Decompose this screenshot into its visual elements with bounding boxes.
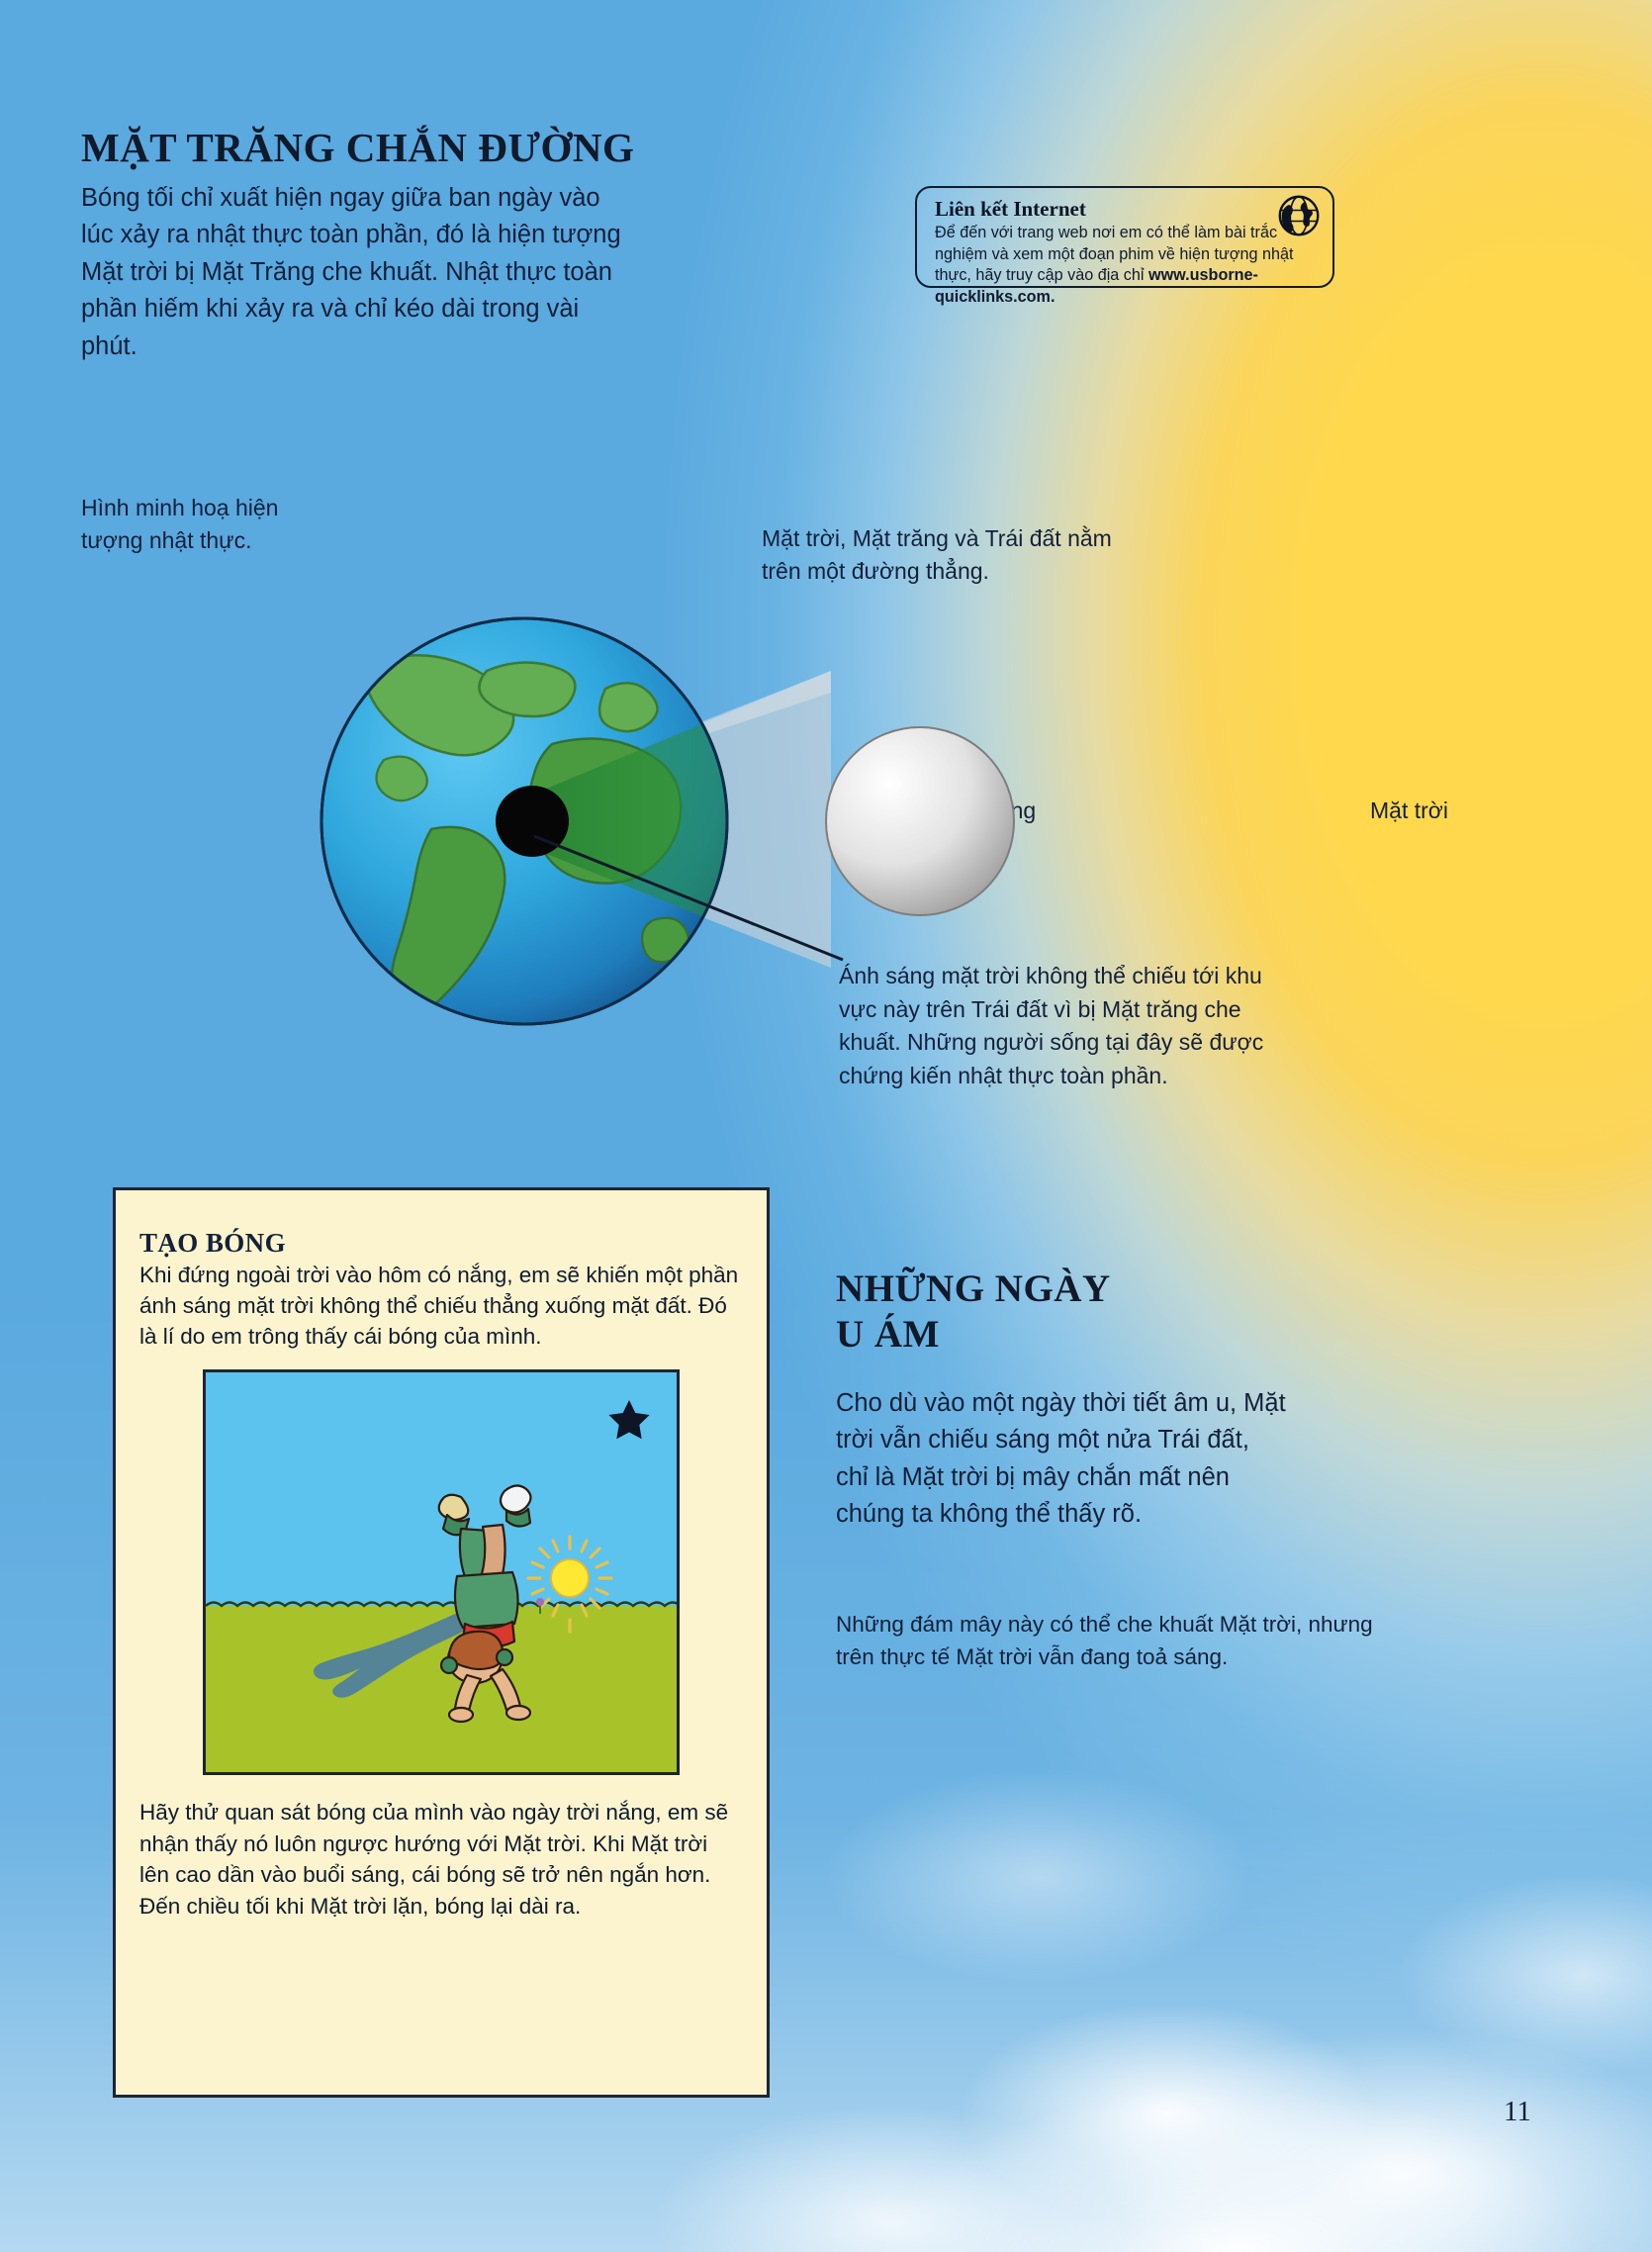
cloudy-days-paragraph-1: Cho dù vào một ngày thời tiết âm u, Mặt … — [836, 1385, 1286, 1534]
shadow-panel-body: Khi đứng ngoài trời vào hôm có nắng, em … — [139, 1261, 743, 1352]
illus-sky — [206, 1372, 680, 1606]
cloudy-days-paragraph-2: Những đám mây này có thể che khuất Mặt t… — [836, 1608, 1390, 1673]
page-title: MẶT TRĂNG CHẮN ĐƯỜNG — [81, 127, 634, 169]
internet-link-body: Để đến với trang web nơi em có thể làm b… — [935, 223, 1319, 309]
moon-sphere — [826, 727, 1014, 915]
globe-icon — [1277, 194, 1321, 237]
cloudy-days-heading-line2: U ÁM — [836, 1313, 940, 1356]
internet-link-box[interactable]: Liên kết Internet Để đến với trang web n… — [915, 186, 1334, 288]
eclipse-diagram — [237, 495, 1237, 1049]
shadow-panel-footer: Hãy thử quan sát bóng của mình vào ngày … — [139, 1797, 743, 1922]
intro-paragraph: Bóng tối chỉ xuất hiện ngay giữa ban ngà… — [81, 180, 635, 365]
cloudy-days-heading: NHỮNG NGÀY U ÁM — [836, 1267, 1111, 1357]
handstand-shadow-illustration — [203, 1369, 680, 1775]
page-number: 11 — [1504, 2096, 1531, 2128]
cloudy-days-heading-line1: NHỮNG NGÀY — [836, 1267, 1111, 1310]
internet-link-title: Liên kết Internet — [935, 197, 1319, 222]
shadow-panel-title: TẠO BÓNG — [139, 1228, 767, 1259]
diagram-label-sun: Mặt trời — [1370, 798, 1448, 824]
shadow-activity-panel: TẠO BÓNG Khi đứng ngoài trời vào hôm có … — [113, 1187, 770, 2098]
